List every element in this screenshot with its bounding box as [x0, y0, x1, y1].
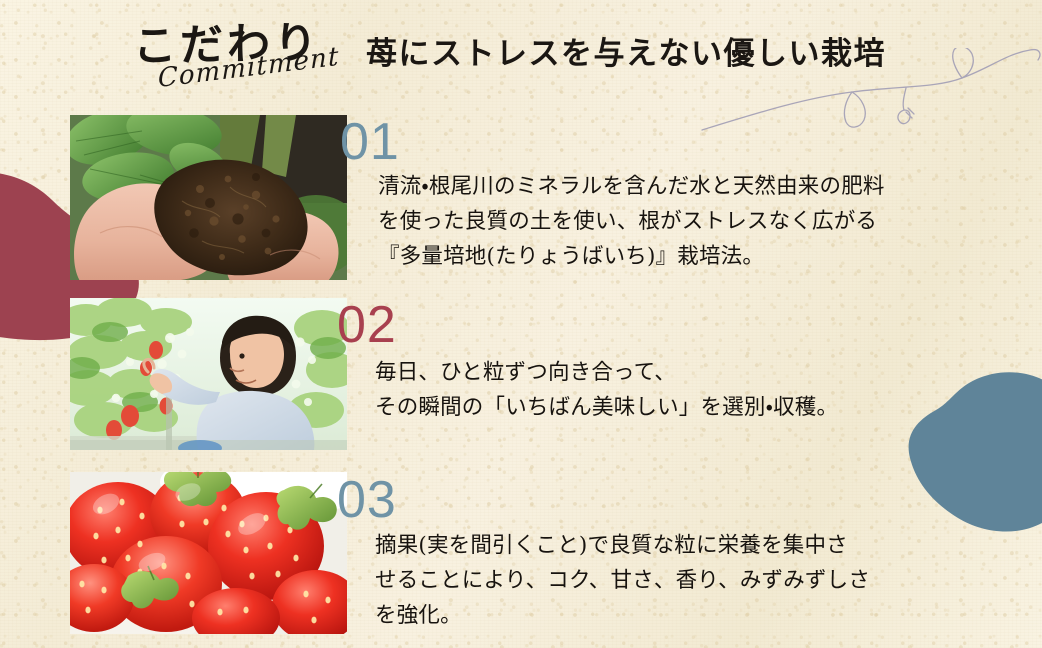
commitment-heading-block: こだわり Commitment — [133, 12, 348, 108]
commitment-page: こだわり Commitment 苺にストレスを与えない優しい栽培 — [0, 0, 1042, 648]
item-number-01: 01 — [340, 116, 400, 168]
commitment-item-03: 03 摘果(実を間引くこと)で良質な粒に栄養を集中さ せることにより、コク、甘さ… — [0, 472, 1042, 634]
photo-soil-in-hands — [70, 115, 347, 280]
item-description-01: 清流・根尾川のミネラルを含んだ水と天然由来の肥料 を使った良質の土を使い、根がス… — [378, 170, 1018, 274]
item-description-02: 毎日、ひと粒ずつ向き合って、 その瞬間の「いちばん美味しい」を選別・収穫。 — [375, 356, 1015, 426]
photo-farmer-harvesting — [70, 298, 347, 450]
commitment-item-02: 02 毎日、ひと粒ずつ向き合って、 その瞬間の「いちばん美味しい」を選別・収穫。 — [0, 298, 1042, 450]
item-number-03: 03 — [337, 474, 397, 526]
item-number-02: 02 — [337, 299, 397, 351]
item-description-03: 摘果(実を間引くこと)で良質な粒に栄養を集中さ せることにより、コク、甘さ、香り… — [375, 529, 1015, 633]
photo-strawberries-closeup — [70, 472, 347, 634]
page-subtitle: 苺にストレスを与えない優しい栽培 — [366, 28, 886, 73]
page-header: こだわり Commitment 苺にストレスを与えない優しい栽培 — [0, 0, 1042, 112]
commitment-item-01: 01 清流・根尾川のミネラルを含んだ水と天然由来の肥料 を使った良質の土を使い、… — [0, 115, 1042, 280]
